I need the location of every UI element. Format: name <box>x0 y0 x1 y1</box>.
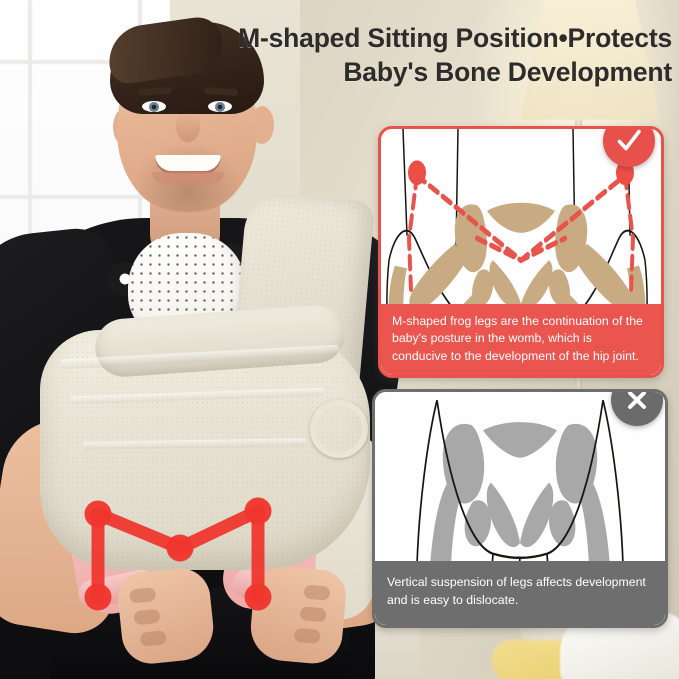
caption-correct: M-shaped frog legs are the continuation … <box>381 304 661 375</box>
man-nose <box>176 112 200 142</box>
man-lower-lip <box>152 172 224 184</box>
man-eye-left <box>142 101 166 112</box>
wrap-ring <box>310 400 368 458</box>
title-line-1: M-shaped Sitting Position•Protects <box>232 22 672 56</box>
check-glyph <box>612 126 646 158</box>
man-hand-left <box>115 565 216 666</box>
man-eye-right <box>208 101 232 112</box>
infographic-stage: M-shaped Sitting Position•Protects Baby'… <box>0 0 679 679</box>
x-glyph <box>621 389 653 416</box>
caption-incorrect: Vertical suspension of legs affects deve… <box>375 561 665 625</box>
left-knee-marker-diagram <box>408 160 426 185</box>
panel-incorrect-vertical-position: Vertical suspension of legs affects deve… <box>372 389 668 628</box>
page-title: M-shaped Sitting Position•Protects Baby'… <box>232 22 672 90</box>
title-line-2: Baby's Bone Development <box>232 56 672 90</box>
panel-correct-m-position: M-shaped frog legs are the continuation … <box>378 126 664 378</box>
man-hand-right <box>248 564 348 666</box>
